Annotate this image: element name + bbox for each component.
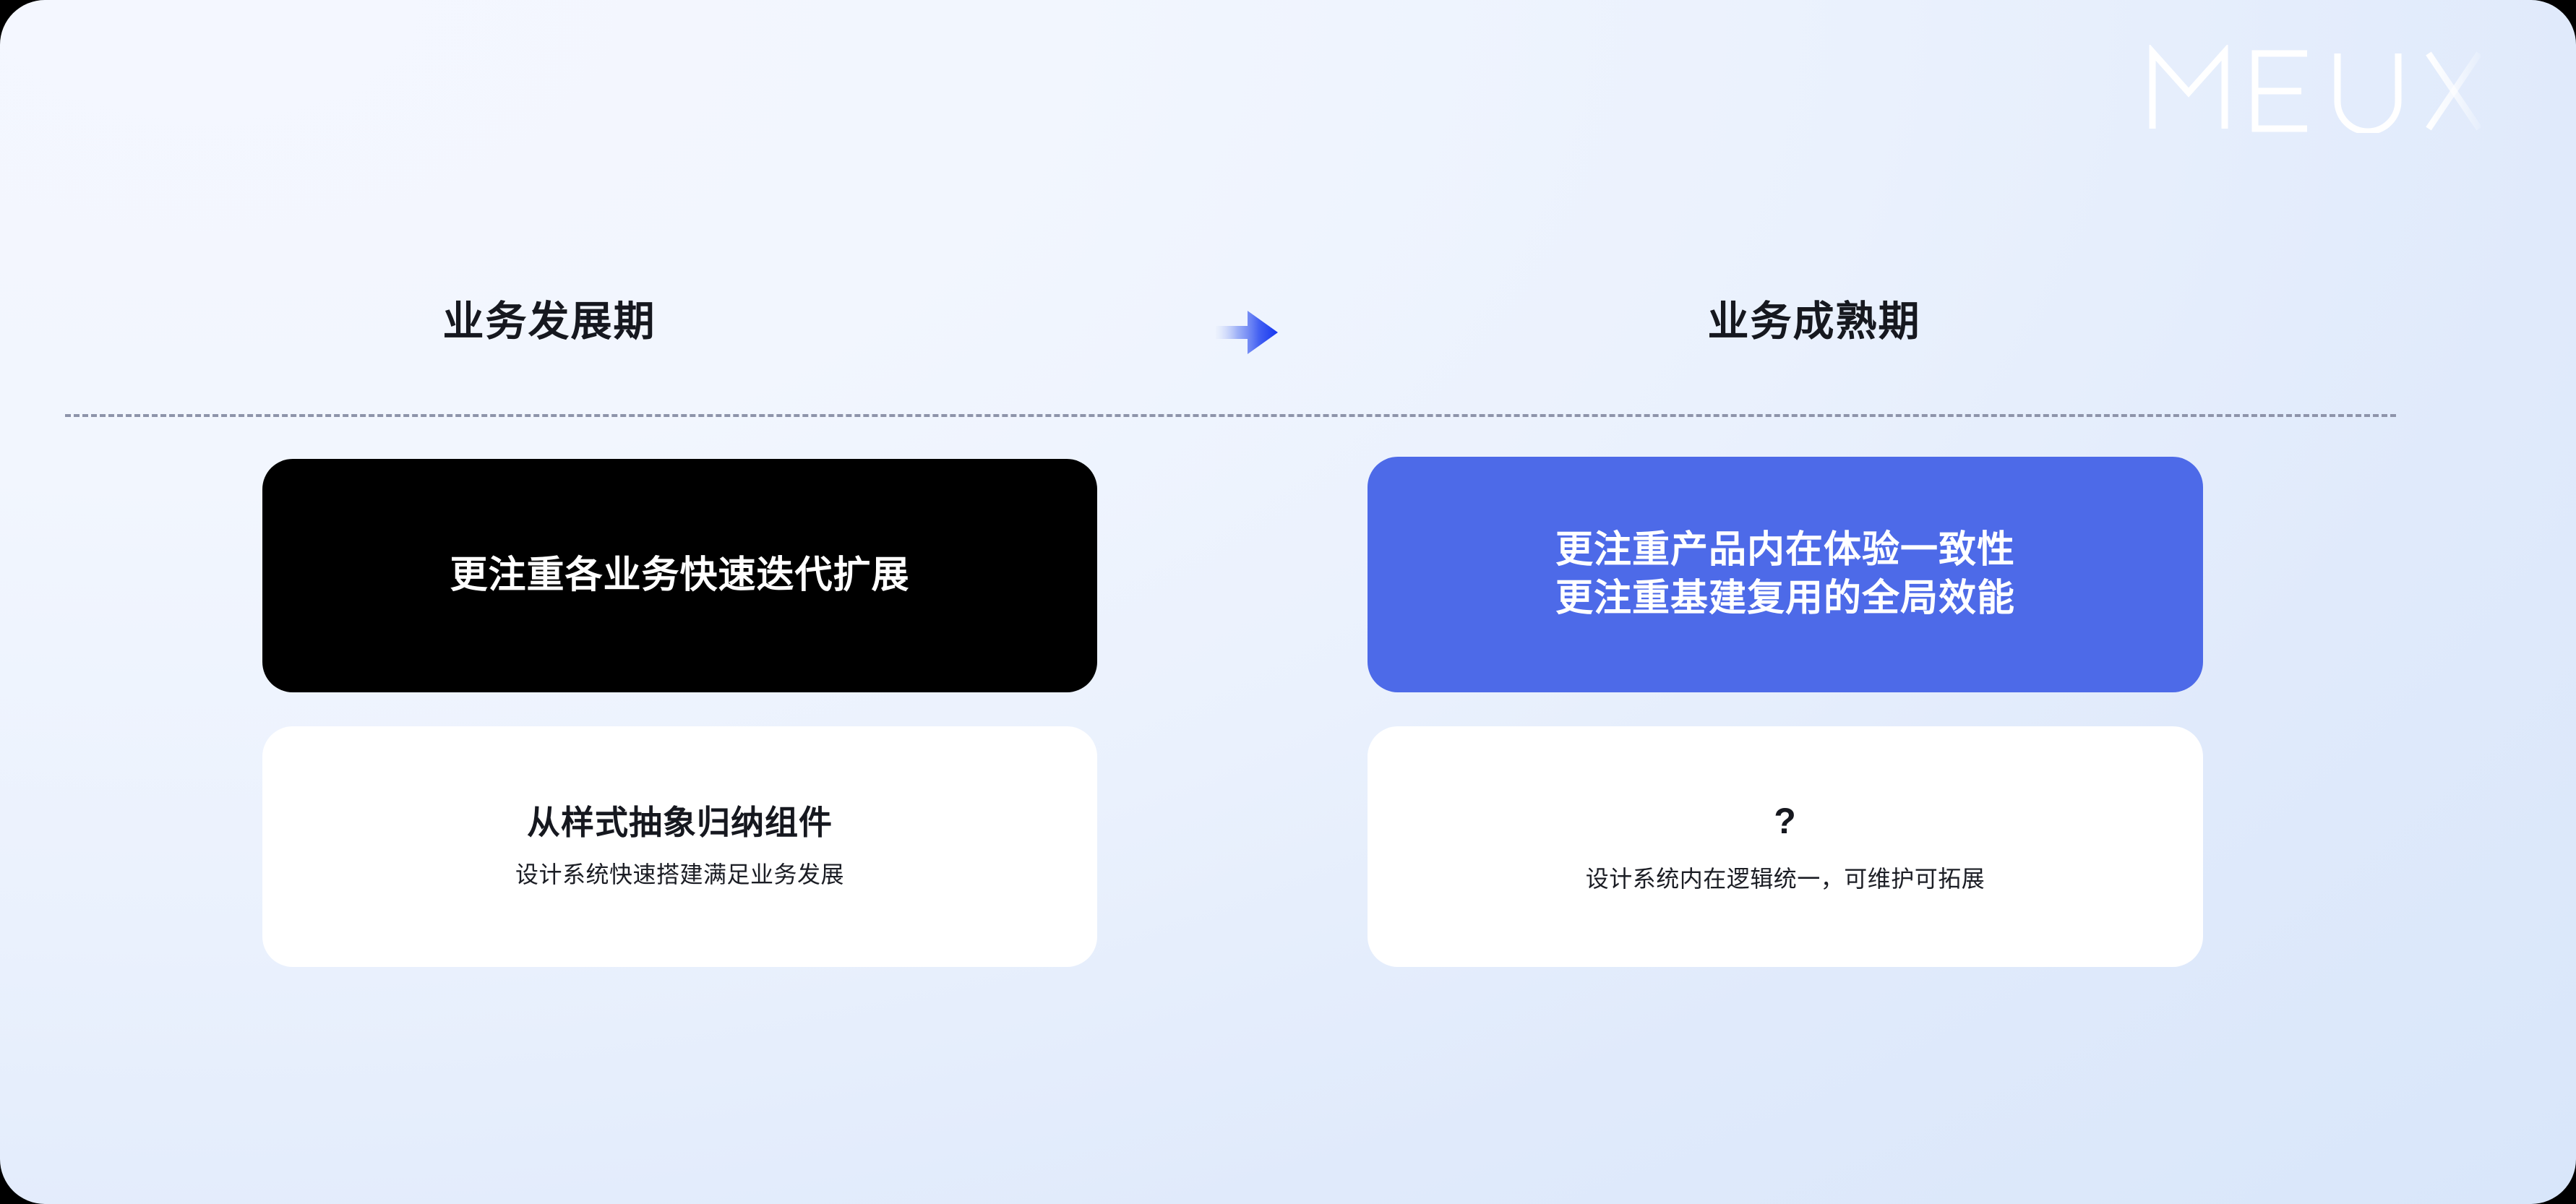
development-secondary-subtitle: 设计系统快速搭建满足业务发展	[515, 860, 844, 890]
development-primary-line-1: 更注重各业务快速迭代扩展	[450, 551, 909, 600]
maturity-primary-line-1: 更注重产品内在体验一致性	[1555, 526, 2015, 575]
maturity-primary-line-2: 更注重基建复用的全局效能	[1555, 575, 2015, 623]
development-secondary-card[interactable]: 从样式抽象归纳组件 设计系统快速搭建满足业务发展	[262, 726, 1097, 967]
maturity-primary-card[interactable]: 更注重产品内在体验一致性 更注重基建复用的全局效能	[1368, 457, 2203, 692]
maturity-secondary-card[interactable]: ? 设计系统内在逻辑统一，可维护可拓展	[1368, 726, 2203, 967]
development-primary-card[interactable]: 更注重各业务快速迭代扩展	[262, 459, 1097, 692]
section-divider	[65, 414, 2396, 417]
arrow-right-icon	[1216, 308, 1278, 357]
phase-title-development: 业务发展期	[130, 299, 969, 345]
slide-canvas: 业务发展期 业务成熟期 更注重各业务快速迭代扩展 更注重产品内在体验一致性 更注…	[0, 0, 2576, 1204]
maturity-secondary-title: ?	[1774, 799, 1797, 843]
phase-title-maturity: 业务成熟期	[1395, 299, 2233, 345]
development-secondary-title: 从样式抽象归纳组件	[527, 803, 833, 843]
maturity-secondary-subtitle: 设计系统内在逻辑统一，可维护可拓展	[1586, 864, 1985, 895]
meux-logo	[2148, 45, 2481, 133]
